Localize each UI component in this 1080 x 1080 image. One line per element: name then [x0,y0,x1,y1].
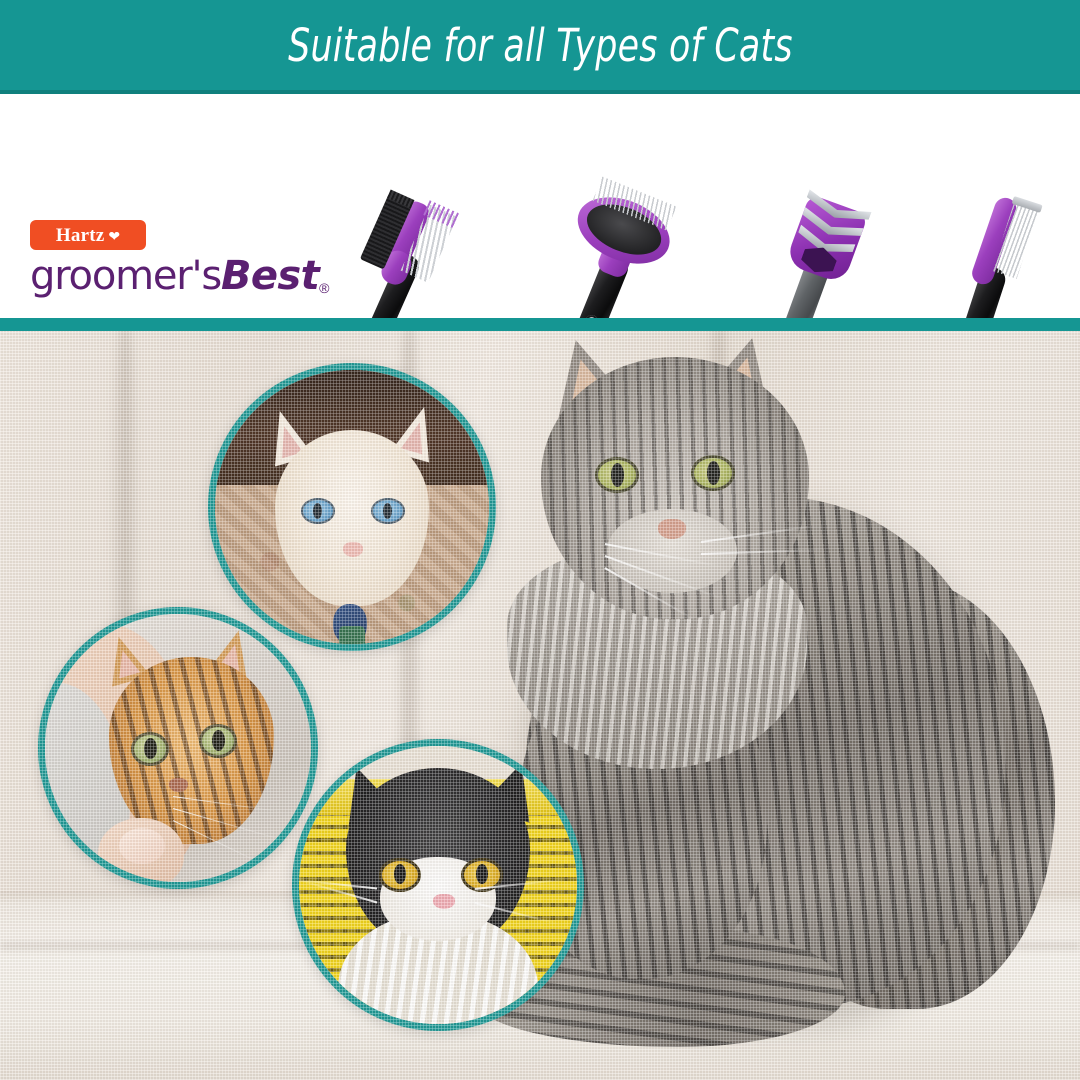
cat-head [275,430,428,605]
cat-eye-left [301,498,335,524]
product-strip: Hartz ❤ groomer'sBest® [0,94,1080,318]
cat-eye-left [595,457,639,493]
hartz-badge: Hartz ❤ [30,220,146,250]
kitten-eye-left [131,732,169,766]
inset-tuxedo-persian [292,739,584,1031]
groomers-word: groomer's [30,253,221,299]
marketing-image: Suitable for all Types of Cats Hartz ❤ g… [0,0,1080,1080]
cat-nose [433,894,455,909]
inset-cream-cat [208,363,496,651]
hartz-wordmark: Hartz [56,226,104,245]
hero-photo [0,331,1080,1080]
cat-nose [343,542,363,557]
header-banner: Suitable for all Types of Cats [0,0,1080,90]
kitten-nose [169,778,188,792]
inset-bengal-kitten [38,607,318,889]
heart-paw-icon: ❤ [108,229,120,243]
cat-eye-left [379,858,421,892]
cat-eye-right [371,498,405,524]
cat-nose [658,519,686,539]
cat-eye-right [691,455,735,491]
page-title: Suitable for all Types of Cats [288,19,793,72]
kitten-eye-right [199,724,237,758]
groomers-best-lockup: groomer'sBest® [30,253,292,299]
brand-logo: Hartz ❤ groomer'sBest® [30,220,292,299]
collar-tag-green [339,626,365,651]
section-divider [0,318,1080,331]
